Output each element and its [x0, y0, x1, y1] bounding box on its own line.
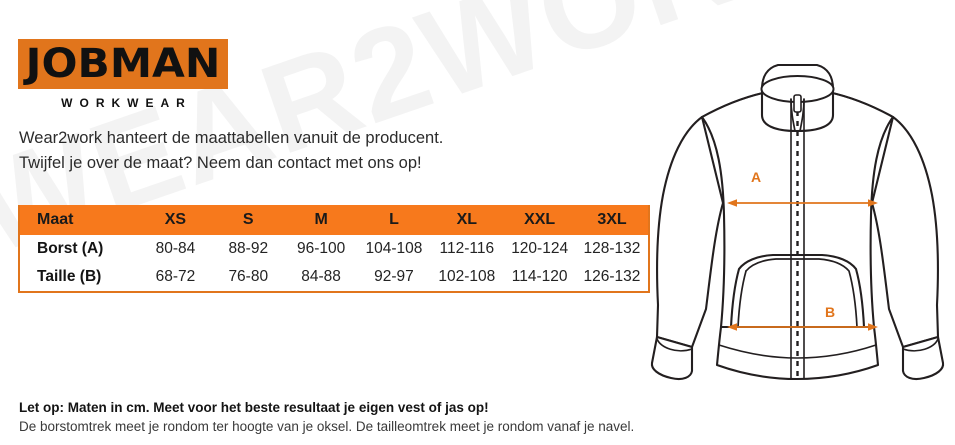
table-header-cell: S	[212, 205, 285, 235]
table-cell: 128-132	[576, 235, 649, 263]
jacket-illustration: A B	[645, 55, 950, 395]
table-header-cell: XS	[139, 205, 212, 235]
footer-line-2: De borstomtrek meet je rondom ter hoogte…	[19, 417, 634, 436]
table-cell: 104-108	[358, 235, 431, 263]
table-row: Taille (B) 68-72 76-80 84-88 92-97 102-1…	[19, 263, 649, 292]
table-cell: 120-124	[503, 235, 576, 263]
table-header-cell: XL	[430, 205, 503, 235]
right-sleeve-shape	[872, 117, 938, 347]
table-cell: 80-84	[139, 235, 212, 263]
row-label: Taille (B)	[19, 263, 139, 292]
table-row: Borst (A) 80-84 88-92 96-100 104-108 112…	[19, 235, 649, 263]
table-cell: 114-120	[503, 263, 576, 292]
table-header-cell: 3XL	[576, 205, 649, 235]
intro-text: Wear2work hanteert de maattabellen vanui…	[19, 126, 443, 176]
size-table: Maat XS S M L XL XXL 3XL Borst (A) 80-84…	[18, 205, 650, 293]
table-cell: 76-80	[212, 263, 285, 292]
footer-note: Let op: Maten in cm. Meet voor het beste…	[19, 398, 634, 436]
footer-line-1: Let op: Maten in cm. Meet voor het beste…	[19, 398, 634, 417]
table-header-cell: L	[358, 205, 431, 235]
table-cell: 68-72	[139, 263, 212, 292]
brand-logo: JOBMAN WORKWEAR	[18, 39, 228, 110]
table-header-cell: XXL	[503, 205, 576, 235]
table-cell: 84-88	[285, 263, 358, 292]
table-header-row: Maat XS S M L XL XXL 3XL	[19, 205, 649, 235]
table-cell: 102-108	[430, 263, 503, 292]
table-cell: 96-100	[285, 235, 358, 263]
intro-line-2: Twijfel je over de maat? Neem dan contac…	[19, 151, 443, 176]
left-sleeve-shape	[657, 117, 723, 347]
intro-line-1: Wear2work hanteert de maattabellen vanui…	[19, 126, 443, 151]
brand-name: JOBMAN	[12, 39, 235, 89]
table-cell: 88-92	[212, 235, 285, 263]
logo-orange-box: JOBMAN	[18, 39, 228, 89]
table-header-cell: Maat	[19, 205, 139, 235]
zipper-pull	[794, 95, 801, 112]
table-cell: 112-116	[430, 235, 503, 263]
measure-b-label: B	[825, 304, 835, 320]
table-header-cell: M	[285, 205, 358, 235]
table-cell: 92-97	[358, 263, 431, 292]
row-label: Borst (A)	[19, 235, 139, 263]
measure-a-label: A	[751, 169, 761, 185]
brand-tagline: WORKWEAR	[18, 96, 228, 110]
size-chart-page: JOBMAN WORKWEAR Wear2work hanteert de ma…	[0, 0, 955, 445]
table-cell: 126-132	[576, 263, 649, 292]
